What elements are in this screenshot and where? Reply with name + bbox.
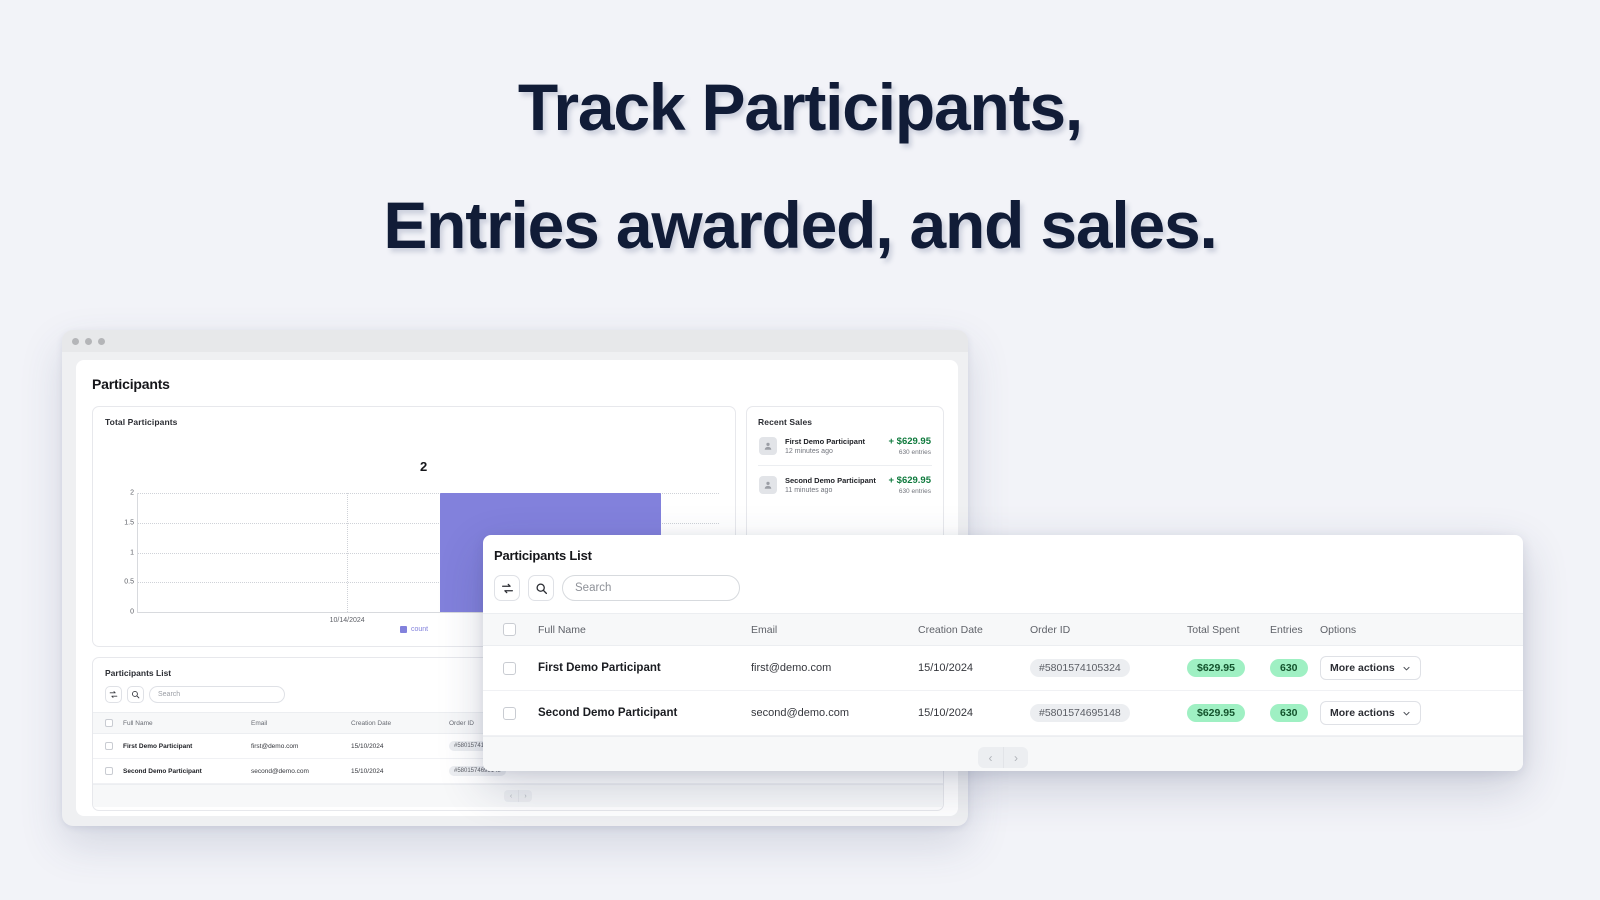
entries-badge: 630: [1270, 659, 1308, 677]
cell-creation-date: 15/10/2024: [918, 646, 1030, 691]
more-actions-button[interactable]: More actions: [1320, 656, 1421, 680]
background-table-footer: ‹ ›: [93, 784, 943, 807]
chevron-down-icon: [1402, 709, 1411, 718]
column-header-total-spent: Total Spent: [1187, 614, 1270, 646]
cell-email: second@demo.com: [751, 691, 918, 736]
window-minimize-dot-icon[interactable]: [85, 338, 92, 345]
window-close-dot-icon[interactable]: [72, 338, 79, 345]
participant-name: First Demo Participant: [538, 662, 661, 674]
sale-participant-name: First Demo Participant: [785, 437, 888, 446]
cell-order-id: #5801574695148: [1030, 691, 1187, 736]
cell-full-name: Second Demo Participant: [538, 691, 751, 736]
cell-options: More actions: [1320, 691, 1523, 736]
cell-email: first@demo.com: [251, 734, 351, 759]
entries-badge: 630: [1270, 704, 1308, 722]
row-checkbox[interactable]: [105, 742, 113, 750]
pagination-prev-button[interactable]: ‹: [978, 747, 1003, 768]
page-title: Participants: [92, 376, 944, 392]
cell-creation-date: 15/10/2024: [351, 759, 449, 784]
x-tick-label: 10/14/2024: [330, 617, 365, 624]
recent-sale-item[interactable]: First Demo Participant 12 minutes ago + …: [758, 427, 932, 466]
row-select-cell: [483, 691, 538, 736]
hero-line-1: Track Participants,: [0, 48, 1600, 166]
window-maximize-dot-icon[interactable]: [98, 338, 105, 345]
browser-titlebar: [62, 330, 968, 352]
gridline-vertical: [347, 493, 348, 612]
participant-name: Second Demo Participant: [123, 768, 202, 775]
y-tick-label: 0: [130, 609, 134, 616]
background-pagination: ‹ ›: [504, 790, 532, 802]
refresh-icon[interactable]: [105, 686, 122, 703]
participant-name: First Demo Participant: [123, 743, 192, 750]
column-header-email: Email: [251, 713, 351, 734]
row-checkbox[interactable]: [105, 767, 113, 775]
column-header-full-name: Full Name: [123, 713, 251, 734]
background-search-input[interactable]: Search: [149, 686, 285, 703]
y-tick-label: 1: [130, 549, 134, 556]
sale-amount: + $629.95: [888, 436, 931, 447]
search-icon[interactable]: [127, 686, 144, 703]
row-checkbox[interactable]: [503, 707, 516, 720]
select-all-header: [93, 713, 123, 734]
cell-creation-date: 15/10/2024: [918, 691, 1030, 736]
cell-entries: 630: [1270, 691, 1320, 736]
sale-amount: + $629.95: [888, 475, 931, 486]
chevron-down-icon: [1402, 664, 1411, 673]
cell-email: first@demo.com: [751, 646, 918, 691]
column-header-email: Email: [751, 614, 918, 646]
cell-options: More actions: [1320, 646, 1523, 691]
pagination-next-button[interactable]: ›: [1003, 747, 1028, 768]
row-select-cell: [483, 646, 538, 691]
hero-heading: Track Participants, Entries awarded, and…: [0, 48, 1600, 284]
bar-data-label: 2: [420, 459, 427, 474]
order-id-badge: #5801574695148: [1030, 704, 1130, 722]
more-actions-label: More actions: [1330, 707, 1395, 719]
y-tick-label: 1.5: [124, 519, 134, 526]
select-all-checkbox[interactable]: [105, 719, 113, 727]
cell-order-id: #5801574105324: [1030, 646, 1187, 691]
order-id-badge: #5801574105324: [1030, 659, 1130, 677]
modal-title: Participants List: [483, 535, 1523, 563]
y-tick-label: 2: [130, 490, 134, 497]
more-actions-label: More actions: [1330, 662, 1395, 674]
cell-total-spent: $629.95: [1187, 691, 1270, 736]
cell-full-name: First Demo Participant: [538, 646, 751, 691]
select-all-header: [483, 614, 538, 646]
column-header-entries: Entries: [1270, 614, 1320, 646]
legend-swatch-icon: [400, 626, 407, 633]
row-checkbox[interactable]: [503, 662, 516, 675]
cell-full-name: First Demo Participant: [123, 734, 251, 759]
more-actions-button[interactable]: More actions: [1320, 701, 1421, 725]
user-avatar-icon: [759, 476, 777, 494]
column-header-full-name: Full Name: [538, 614, 751, 646]
y-tick-label: 0.5: [124, 579, 134, 586]
total-spent-badge: $629.95: [1187, 659, 1245, 677]
column-header-options: Options: [1320, 614, 1523, 646]
cell-email: second@demo.com: [251, 759, 351, 784]
modal-toolbar: [483, 563, 1523, 613]
sale-entries: 630 entries: [888, 488, 931, 495]
row-select-cell: [93, 734, 123, 759]
pagination-prev-button[interactable]: ‹: [504, 790, 518, 802]
modal-table-footer: ‹ ›: [483, 736, 1523, 771]
participants-list-modal: Participants List Full Nam: [483, 535, 1523, 771]
column-header-order-id: Order ID: [1030, 614, 1187, 646]
pagination: ‹ ›: [978, 747, 1028, 768]
total-spent-badge: $629.95: [1187, 704, 1245, 722]
table-header-row: Full Name Email Creation Date Order ID T…: [483, 614, 1523, 646]
sale-participant-name: Second Demo Participant: [785, 476, 888, 485]
sale-timestamp: 11 minutes ago: [785, 487, 888, 494]
column-header-creation-date: Creation Date: [351, 713, 449, 734]
recent-sales-label: Recent Sales: [758, 417, 932, 427]
pagination-next-button[interactable]: ›: [518, 790, 532, 802]
search-input[interactable]: [575, 582, 727, 594]
table-row[interactable]: Second Demo Participant second@demo.com …: [483, 691, 1523, 736]
cell-full-name: Second Demo Participant: [123, 759, 251, 784]
select-all-checkbox[interactable]: [503, 623, 516, 636]
refresh-icon[interactable]: [494, 575, 520, 601]
cell-creation-date: 15/10/2024: [351, 734, 449, 759]
row-select-cell: [93, 759, 123, 784]
chart-card-label: Total Participants: [105, 417, 723, 427]
table-row[interactable]: First Demo Participant first@demo.com 15…: [483, 646, 1523, 691]
search-icon[interactable]: [528, 575, 554, 601]
sale-entries: 630 entries: [888, 449, 931, 456]
cell-entries: 630: [1270, 646, 1320, 691]
user-avatar-icon: [759, 437, 777, 455]
participant-name: Second Demo Participant: [538, 707, 677, 719]
participants-table: Full Name Email Creation Date Order ID T…: [483, 613, 1523, 736]
legend-label: count: [411, 626, 428, 633]
recent-sale-item[interactable]: Second Demo Participant 11 minutes ago +…: [758, 466, 932, 504]
hero-line-2: Entries awarded, and sales.: [0, 166, 1600, 284]
column-header-creation-date: Creation Date: [918, 614, 1030, 646]
sale-timestamp: 12 minutes ago: [785, 448, 888, 455]
search-input-wrapper[interactable]: [562, 575, 740, 601]
cell-total-spent: $629.95: [1187, 646, 1270, 691]
